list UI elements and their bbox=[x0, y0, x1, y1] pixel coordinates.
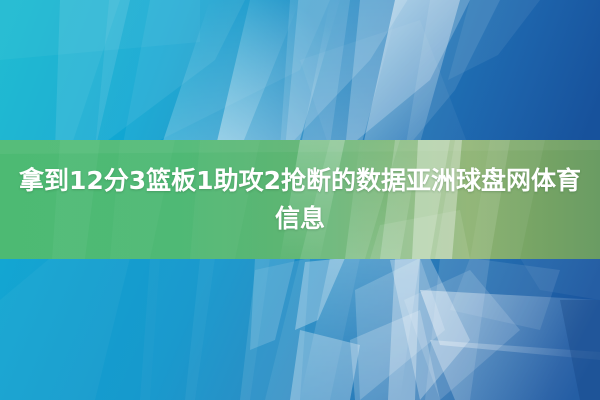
caption-band: 拿到12分3篮板1助攻2抢断的数据亚洲球盘网体育信息 bbox=[0, 140, 600, 259]
banner-image: 拿到12分3篮板1助攻2抢断的数据亚洲球盘网体育信息 bbox=[0, 0, 600, 400]
caption-text: 拿到12分3篮板1助攻2抢断的数据亚洲球盘网体育信息 bbox=[0, 140, 600, 259]
